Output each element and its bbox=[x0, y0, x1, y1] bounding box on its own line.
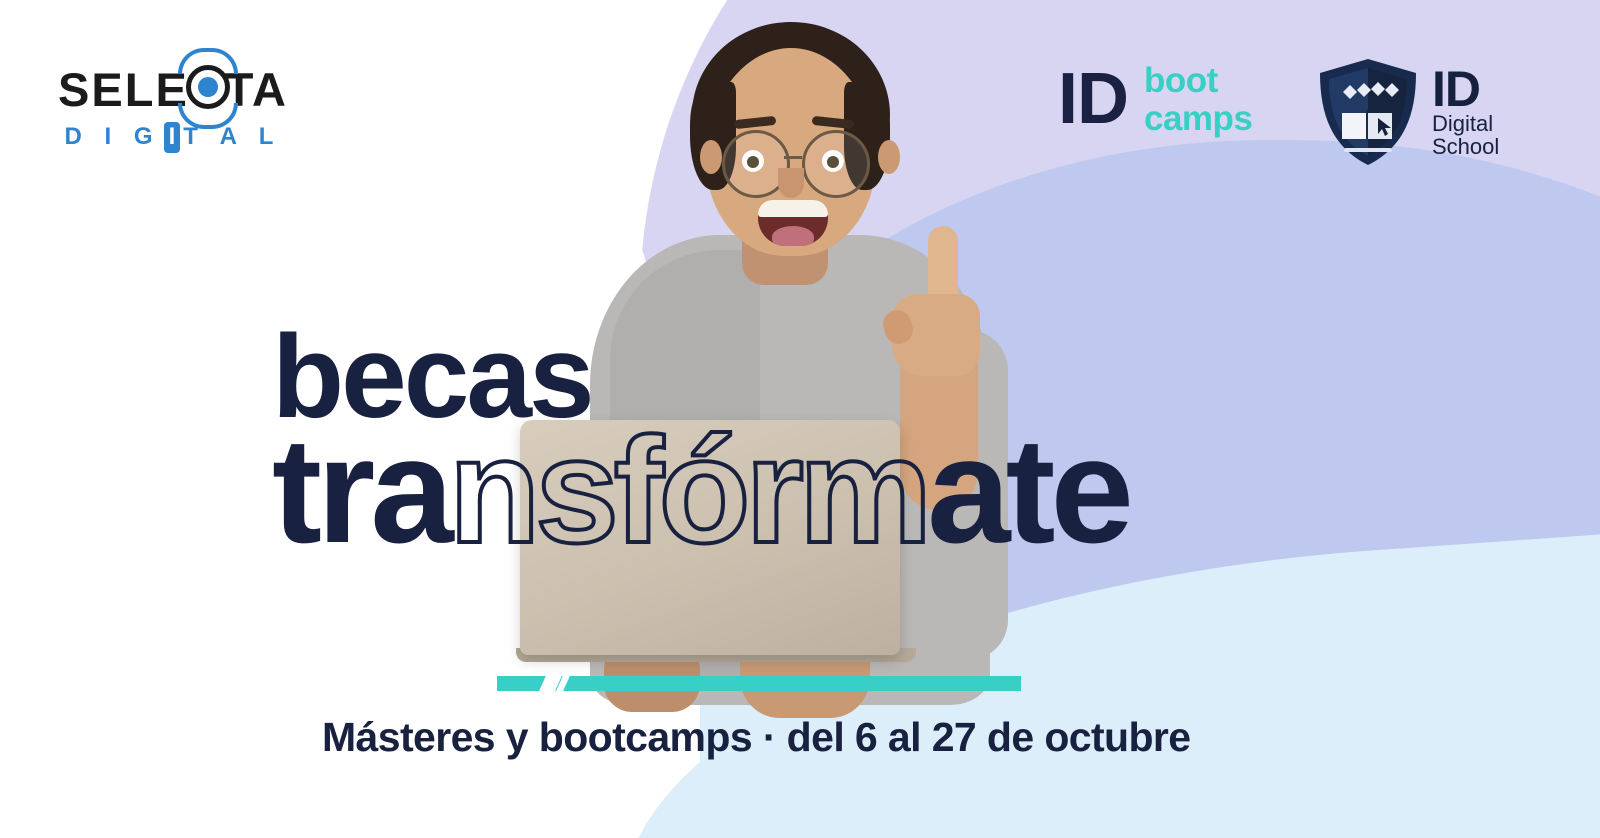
id-digital-school-logo[interactable]: ID Digital School bbox=[1316, 56, 1499, 168]
teeth bbox=[758, 200, 828, 217]
glasses-lens-right bbox=[802, 130, 870, 198]
shield-icon bbox=[1316, 56, 1420, 168]
pointing-hand bbox=[882, 226, 986, 376]
selecta-subtitle: D I GIT A L bbox=[65, 122, 282, 153]
selecta-c-dot-icon bbox=[198, 77, 218, 97]
ear-right bbox=[878, 140, 900, 174]
teal-accent-bar bbox=[497, 676, 1021, 691]
selecta-digital-logo[interactable]: SELECTA D I GIT A L bbox=[58, 66, 288, 153]
ids-line1: Digital bbox=[1432, 112, 1499, 135]
tongue bbox=[772, 226, 814, 246]
selecta-sub-i-box: I bbox=[164, 122, 181, 153]
id-bootcamps-words: boot camps bbox=[1144, 62, 1252, 138]
person-photo bbox=[530, 0, 1050, 720]
promo-banner: SELECTA D I GIT A L ID boot camps bbox=[0, 0, 1600, 838]
selecta-word-prefix: SELE bbox=[58, 63, 189, 116]
nose bbox=[778, 168, 804, 198]
selecta-sub-pre: D I G bbox=[65, 123, 161, 150]
ear-left bbox=[700, 140, 722, 174]
id-bootcamps-line2: camps bbox=[1144, 100, 1252, 138]
id-bootcamps-id-text: ID bbox=[1058, 66, 1128, 134]
id-digital-school-text: ID Digital School bbox=[1432, 66, 1499, 159]
selecta-sub-post: T A L bbox=[183, 123, 281, 150]
selecta-wordmark: SELECTA bbox=[58, 66, 288, 113]
subtitle-text: Másteres y bootcamps · del 6 al 27 de oc… bbox=[322, 714, 1190, 761]
glasses-bridge bbox=[784, 156, 802, 159]
mouth bbox=[758, 200, 828, 246]
ids-id-text: ID bbox=[1432, 66, 1499, 112]
laptop bbox=[520, 420, 900, 655]
id-bootcamps-line1: boot bbox=[1144, 62, 1252, 100]
id-bootcamps-logo[interactable]: ID boot camps bbox=[1058, 62, 1252, 138]
ids-line2: School bbox=[1432, 135, 1499, 158]
